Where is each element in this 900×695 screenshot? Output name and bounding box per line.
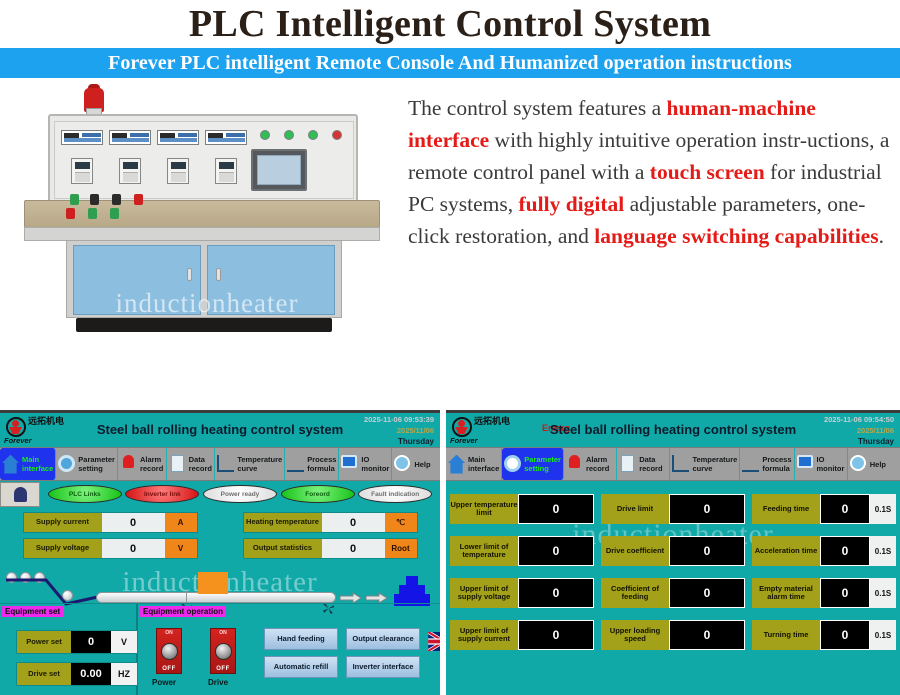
param-value[interactable]: 0: [669, 494, 745, 524]
page-root: PLC Intelligent Control System Forever P…: [0, 0, 900, 695]
document-icon: [169, 455, 186, 474]
nav-process-formula[interactable]: Process formula: [740, 448, 794, 480]
nav-help[interactable]: Help: [392, 448, 440, 480]
nav-main-interface[interactable]: Main interface: [446, 448, 502, 480]
nav-data-record[interactable]: Data record: [617, 448, 670, 480]
description-column: The control system features a human-mach…: [400, 78, 900, 410]
instrument-panel-face: [54, 121, 354, 199]
nav-parameter-setting[interactable]: Parameter setting: [502, 448, 564, 480]
equipment-operation-section: Equipment operation ON OFF Power ON OFF …: [138, 604, 440, 695]
parameter-grid: Upper temperature limit 0 Drive limit 0 …: [446, 488, 900, 693]
readout-value: 0: [102, 539, 165, 558]
param-label: Turning time: [752, 620, 820, 650]
param-value[interactable]: 0: [820, 578, 870, 608]
field-value[interactable]: 0: [71, 631, 111, 653]
desc-seg-1: The control system features a: [408, 96, 667, 120]
param-label: Upper limit of supply current: [450, 620, 518, 650]
nav-io-monitor[interactable]: IO monitor: [339, 448, 392, 480]
param-unit: 0.1S: [870, 620, 896, 650]
desc-highlight-2: touch screen: [650, 160, 765, 184]
heating-zone: [198, 572, 228, 594]
param-unit: 0.1S: [870, 494, 896, 524]
nav-alarm-record[interactable]: Alarm record: [118, 448, 167, 480]
readout-panel: Supply current 0 A Heating temperature 0…: [0, 507, 440, 559]
param-label: Lower limit of temperature: [450, 536, 518, 566]
date-sub: 2025/11/06: [824, 425, 894, 436]
readout-unit: V: [165, 539, 197, 558]
nav-label: Temperature curve: [237, 455, 282, 473]
nav-label: Temperature curve: [692, 455, 737, 473]
date-sub: 2025/11/06: [364, 425, 434, 436]
nav-label: Process formula: [307, 455, 336, 473]
param-value[interactable]: 0: [669, 620, 745, 650]
hmi-parameter-setting-screen: 远拓机电 Forever Emerg Steel ball rolling he…: [446, 410, 900, 695]
hmi-right-header: 远拓机电 Forever Emerg Steel ball rolling he…: [446, 413, 900, 447]
param-lower-limit-of-temperature[interactable]: Lower limit of temperature 0: [450, 536, 594, 566]
nav-label: Parameter setting: [524, 455, 561, 473]
bell-icon: [566, 455, 583, 474]
control-console-photo: inductionheater: [22, 82, 382, 382]
weekday: Thursday: [824, 436, 894, 447]
hmi-screenshots: 远拓机电 Forever Steel ball rolling heating …: [0, 410, 900, 695]
readout-label: Output statistics: [244, 539, 322, 558]
document-icon: [619, 455, 636, 474]
status-lamp-row: PLC Links Inverter link Power ready Fore…: [0, 481, 440, 507]
formula-icon: [742, 455, 759, 474]
status-lamp-power-ready: Power ready: [203, 485, 277, 503]
cabinet-door-right: [207, 245, 335, 315]
param-value[interactable]: 0: [518, 620, 594, 650]
temperature-controller: [205, 130, 247, 145]
console-desk-edge: [24, 227, 380, 241]
switch-on-label: ON: [165, 630, 173, 636]
param-value[interactable]: 0: [820, 494, 870, 524]
temperature-controller: [157, 130, 199, 145]
param-value[interactable]: 0: [669, 578, 745, 608]
automatic-refill-button[interactable]: Automatic refill: [264, 656, 338, 678]
hmi-left-clock: 2025-11-06 09:53:39 2025/11/06 Thursday: [364, 414, 434, 447]
param-upper-temperature-limit[interactable]: Upper temperature limit 0: [450, 494, 594, 524]
param-turning-time[interactable]: Turning time 0 0.1S: [752, 620, 896, 650]
param-label: Drive limit: [601, 494, 669, 524]
readout-supply-voltage: Supply voltage 0 V: [23, 538, 198, 559]
push-button-green: [110, 208, 119, 219]
param-drive-limit[interactable]: Drive limit 0: [601, 494, 745, 524]
timestamp: 2025-11-06 09:54:50: [824, 414, 894, 425]
field-value[interactable]: 0.00: [71, 663, 111, 685]
param-feeding-time[interactable]: Feeding time 0 0.1S: [752, 494, 896, 524]
nav-label: Alarm record: [586, 455, 614, 473]
parameter-row: Upper limit of supply voltage 0 Coeffici…: [450, 578, 896, 608]
push-button-red: [66, 208, 75, 219]
indicator-lamp-green: [284, 130, 294, 140]
nav-process-formula[interactable]: Process formula: [285, 448, 339, 480]
nav-io-monitor[interactable]: IO monitor: [795, 448, 848, 480]
param-upper-loading-speed[interactable]: Upper loading speed 0: [601, 620, 745, 650]
readout-heating-temperature: Heating temperature 0 ℃: [243, 512, 418, 533]
brand-name-en: Forever: [450, 436, 478, 445]
cabinet-plinth: [76, 318, 332, 332]
temperature-controller: [109, 130, 151, 145]
param-label: Empty material alarm time: [752, 578, 820, 608]
drive-set-field[interactable]: Drive set 0.00 HZ: [16, 662, 138, 686]
home-icon: [2, 455, 19, 474]
keypad-unit: [215, 158, 237, 184]
nav-parameter-setting[interactable]: Parameter setting: [56, 448, 118, 480]
hmi-left-navbar[interactable]: Main interface Parameter setting Alarm r…: [0, 447, 440, 481]
param-value[interactable]: 0: [669, 536, 745, 566]
keypad-unit: [167, 158, 189, 184]
hero-section: inductionheater The control system featu…: [0, 78, 900, 410]
nav-label: Parameter setting: [78, 455, 115, 473]
param-upper-limit-of-supply-voltage[interactable]: Upper limit of supply voltage 0: [450, 578, 594, 608]
readout-unit: A: [165, 513, 197, 532]
hmi-left-header: 远拓机电 Forever Steel ball rolling heating …: [0, 413, 440, 447]
weekday: Thursday: [364, 436, 434, 447]
field-unit: HZ: [111, 663, 137, 685]
nav-label: Data record: [189, 455, 213, 473]
switch-off-label: OFF: [216, 666, 230, 672]
switch-on-label: ON: [219, 630, 227, 636]
param-label: Upper temperature limit: [450, 494, 518, 524]
rotary-knob-icon: [215, 643, 232, 660]
alarm-bell-icon: [14, 487, 27, 502]
nav-label: Process formula: [762, 455, 791, 473]
param-acceleration-time[interactable]: Acceleration time 0 0.1S: [752, 536, 896, 566]
cabinet-door-left: [73, 245, 201, 315]
power-rotary-switch[interactable]: ON OFF: [156, 628, 182, 674]
curve-icon: [672, 455, 689, 474]
steel-ball: [62, 590, 73, 601]
nav-label: Data record: [639, 455, 667, 473]
readout-unit: Root: [385, 539, 417, 558]
hand-feeding-button[interactable]: Hand feeding: [264, 628, 338, 650]
output-clearance-button[interactable]: Output clearance: [346, 628, 420, 650]
formula-icon: [287, 455, 304, 474]
field-label: Power set: [17, 631, 71, 653]
status-lamp-fault-indication: Fault indication: [358, 485, 432, 503]
inverter-interface-button[interactable]: Inverter interface: [346, 656, 420, 678]
status-lamp-forward: Foreord: [281, 485, 355, 503]
cabinet-body: [66, 240, 342, 318]
equipment-set-section: Equipment set Power set 0 V Drive set 0.…: [0, 604, 138, 695]
nav-label: Main interface: [22, 455, 53, 473]
readout-label: Supply current: [24, 513, 102, 532]
desc-highlight-3: fully digital: [519, 192, 625, 216]
status-lamp-plc-links: PLC Links: [48, 485, 122, 503]
nav-temperature-curve[interactable]: Temperature curve: [670, 448, 740, 480]
selector-switch: [90, 194, 99, 205]
readout-value: 0: [102, 513, 165, 532]
indicator-lamp-green: [308, 130, 318, 140]
equipment-set-tag: Equipment set: [2, 606, 63, 617]
status-lamps: PLC Links Inverter link Power ready Fore…: [40, 485, 440, 503]
hmi-main-interface-screen: 远拓机电 Forever Steel ball rolling heating …: [0, 410, 440, 695]
readout-value: 0: [322, 513, 385, 532]
home-icon: [448, 455, 465, 474]
nav-label: Help: [414, 460, 430, 469]
nav-label: Help: [870, 460, 886, 469]
param-label: Upper limit of supply voltage: [450, 578, 518, 608]
emergency-stop-button: [134, 194, 143, 205]
nav-temperature-curve[interactable]: Temperature curve: [215, 448, 285, 480]
hmi-right-navbar[interactable]: Main interface Parameter setting Alarm r…: [446, 447, 900, 481]
param-label: Coefficient of feeding: [601, 578, 669, 608]
nav-help[interactable]: Help: [848, 448, 900, 480]
param-value[interactable]: 0: [518, 494, 594, 524]
subtitle-band: Forever PLC intelligent Remote Console A…: [0, 48, 900, 78]
uk-flag-icon[interactable]: [428, 632, 440, 651]
param-drive-coefficient[interactable]: Drive coefficient 0: [601, 536, 745, 566]
param-value[interactable]: 0: [820, 536, 870, 566]
nav-label: Alarm record: [140, 455, 164, 473]
param-label: Feeding time: [752, 494, 820, 524]
gear-icon: [58, 455, 75, 474]
desc-highlight-4: language switching capabilities: [594, 224, 878, 248]
nav-alarm-record[interactable]: Alarm record: [564, 448, 617, 480]
parameter-row: Upper limit of supply current 0 Upper lo…: [450, 620, 896, 650]
temperature-controller: [61, 130, 103, 145]
param-coefficient-of-feeding[interactable]: Coefficient of feeding 0: [601, 578, 745, 608]
title-bar: PLC Intelligent Control System: [0, 0, 900, 48]
readout-row: Supply voltage 0 V Output statistics 0 R…: [0, 538, 440, 559]
readout-unit: ℃: [385, 513, 417, 532]
field-label: Drive set: [17, 663, 71, 685]
indicator-lamp-green: [260, 130, 270, 140]
description-text: The control system features a human-mach…: [408, 92, 892, 252]
readout-supply-current: Supply current 0 A: [23, 512, 198, 533]
param-empty-material-alarm-time[interactable]: Empty material alarm time 0 0.1S: [752, 578, 896, 608]
selector-switch: [70, 194, 79, 205]
page-title: PLC Intelligent Control System: [189, 2, 711, 46]
product-photo-column: inductionheater: [0, 78, 400, 410]
indicator-lamp-red: [332, 130, 342, 140]
param-unit: 0.1S: [870, 578, 896, 608]
readout-value: 0: [322, 539, 385, 558]
help-icon: [394, 455, 411, 474]
monitor-icon: [341, 455, 358, 474]
instrument-panel: [48, 114, 358, 204]
readout-label: Supply voltage: [24, 539, 102, 558]
alarm-bell-button[interactable]: [0, 482, 40, 507]
brand-name-en: Forever: [4, 436, 32, 445]
nav-label: IO monitor: [361, 455, 389, 473]
parameter-row: Lower limit of temperature 0 Drive coeff…: [450, 536, 896, 566]
drive-switch-label: Drive: [208, 678, 228, 687]
switch-off-label: OFF: [162, 666, 176, 672]
keypad-unit: [119, 158, 141, 184]
readout-output-statistics: Output statistics 0 Root: [243, 538, 418, 559]
collection-bin: [394, 576, 430, 606]
param-value[interactable]: 0: [518, 536, 594, 566]
status-lamp-inverter-link: Inverter link: [125, 485, 199, 503]
readout-label: Heating temperature: [244, 513, 322, 532]
drive-rotary-switch[interactable]: ON OFF: [210, 628, 236, 674]
keypad-unit: [71, 158, 93, 184]
monitor-icon: [797, 455, 814, 474]
timestamp: 2025-11-06 09:53:39: [364, 414, 434, 425]
nav-label: IO monitor: [817, 455, 845, 473]
hmi-right-clock: 2025-11-06 09:54:50 2025/11/06 Thursday: [824, 414, 894, 447]
param-unit: 0.1S: [870, 536, 896, 566]
power-set-field[interactable]: Power set 0 V: [16, 630, 138, 654]
parameter-row: Upper temperature limit 0 Drive limit 0 …: [450, 494, 896, 524]
param-label: Drive coefficient: [601, 536, 669, 566]
bell-icon: [120, 455, 137, 474]
equipment-operation-tag: Equipment operation: [140, 606, 226, 617]
help-icon: [850, 455, 867, 474]
curve-icon: [217, 455, 234, 474]
field-unit: V: [111, 631, 137, 653]
param-label: Acceleration time: [752, 536, 820, 566]
nav-data-record[interactable]: Data record: [167, 448, 216, 480]
hmi-left-bottom: Equipment set Power set 0 V Drive set 0.…: [0, 603, 440, 695]
readout-row: Supply current 0 A Heating temperature 0…: [0, 512, 440, 533]
hmi-touchscreen: [251, 149, 307, 191]
nav-main-interface[interactable]: Main interface: [0, 448, 56, 480]
gear-icon: [504, 455, 521, 474]
param-label: Upper loading speed: [601, 620, 669, 650]
rotary-knob-icon: [161, 643, 178, 660]
nav-label: Main interface: [468, 455, 499, 473]
param-value[interactable]: 0: [518, 578, 594, 608]
param-upper-limit-of-supply-current[interactable]: Upper limit of supply current 0: [450, 620, 594, 650]
page-subtitle: Forever PLC intelligent Remote Console A…: [108, 52, 792, 75]
selector-switch: [112, 194, 121, 205]
power-switch-label: Power: [152, 678, 176, 687]
desc-seg-5: .: [879, 224, 884, 248]
push-button-green: [88, 208, 97, 219]
param-value[interactable]: 0: [820, 620, 870, 650]
